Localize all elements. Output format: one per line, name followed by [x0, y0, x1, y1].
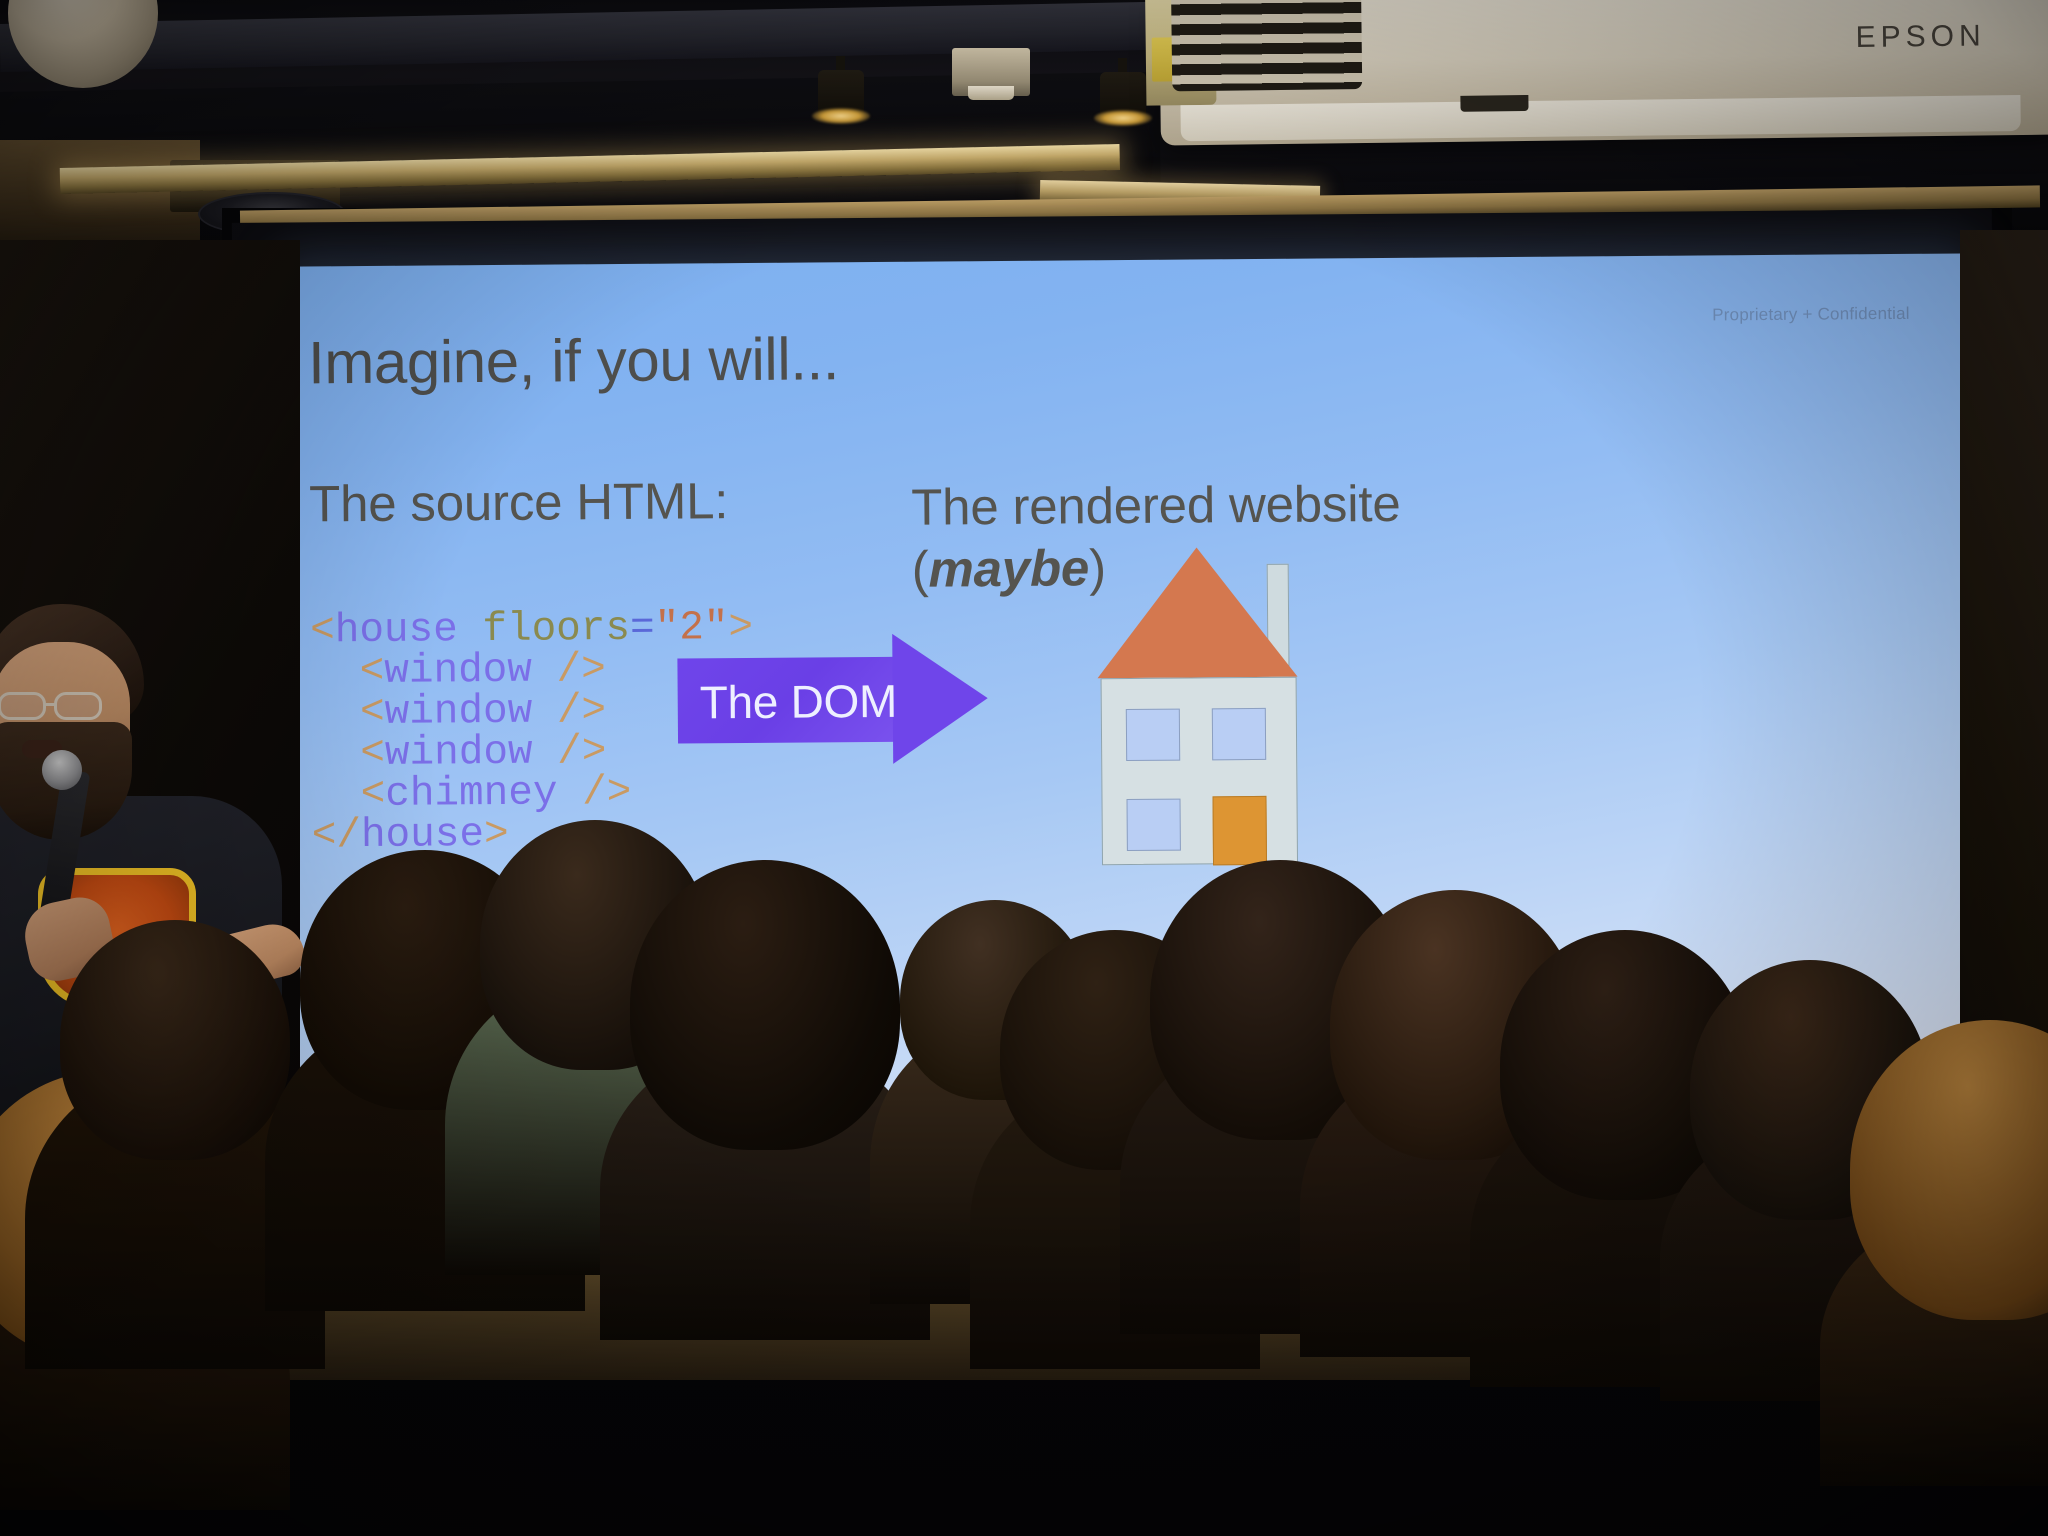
conference-photo: EPSON Proprietary + Confidential Imagine… — [0, 0, 2048, 1536]
arrow-head-icon — [892, 633, 988, 764]
code-token-attr: floors — [482, 606, 630, 653]
house-window — [1126, 709, 1180, 761]
projector-foot — [1460, 95, 1528, 112]
code-token-plain — [532, 729, 557, 775]
audience-member-head — [60, 920, 290, 1160]
dom-arrow-label: The DOM — [700, 674, 898, 730]
code-token-br: /> — [556, 647, 606, 693]
rendered-heading-emphasis: maybe — [928, 540, 1089, 598]
projector: EPSON — [1159, 0, 2048, 145]
code-token-tag: window — [384, 648, 532, 695]
code-token-br: /> — [582, 770, 632, 816]
presenter-glasses-right-lens — [54, 692, 102, 720]
code-token-plain — [532, 688, 557, 734]
code-token-tag: house — [335, 607, 458, 654]
presenter-glasses-bridge — [46, 703, 56, 706]
code-token-tag: window — [384, 689, 532, 736]
audience — [0, 820, 2048, 1536]
track-light-icon — [810, 56, 872, 134]
code-token-br: < — [360, 772, 385, 818]
house-roof — [1097, 547, 1298, 679]
audience-member-head — [630, 860, 900, 1150]
code-line: <chimney /> — [311, 772, 754, 816]
code-token-br: < — [360, 649, 385, 695]
code-token-tag: window — [385, 730, 533, 777]
code-token-br: /> — [557, 688, 607, 734]
track-light-icon — [1092, 58, 1154, 136]
slide-title: Imagine, if you will... — [308, 324, 840, 397]
code-token-eq: = — [630, 606, 655, 652]
code-token-br: < — [360, 731, 385, 777]
dom-arrow: The DOM — [677, 633, 988, 765]
confidential-note: Proprietary + Confidential — [1712, 304, 1910, 326]
ceiling-fixture-lens — [968, 86, 1014, 100]
code-token-plain — [458, 607, 483, 653]
projector-base — [1180, 95, 2020, 141]
code-token-plain — [532, 647, 557, 693]
code-token-br: /> — [557, 729, 607, 775]
code-token-br: < — [360, 690, 385, 736]
code-token-br: < — [310, 608, 335, 654]
presenter-glasses-left-lens — [0, 692, 46, 720]
projector-vent — [1171, 0, 1362, 91]
rendered-heading-paren-open: ( — [911, 541, 928, 598]
code-token-tag: chimney — [385, 770, 558, 817]
code-token-plain — [557, 770, 582, 816]
source-html-heading: The source HTML: — [309, 471, 729, 533]
projector-brand-label: EPSON — [1855, 19, 1985, 55]
house-window — [1212, 708, 1266, 760]
rendered-heading-line1: The rendered website — [911, 475, 1401, 536]
